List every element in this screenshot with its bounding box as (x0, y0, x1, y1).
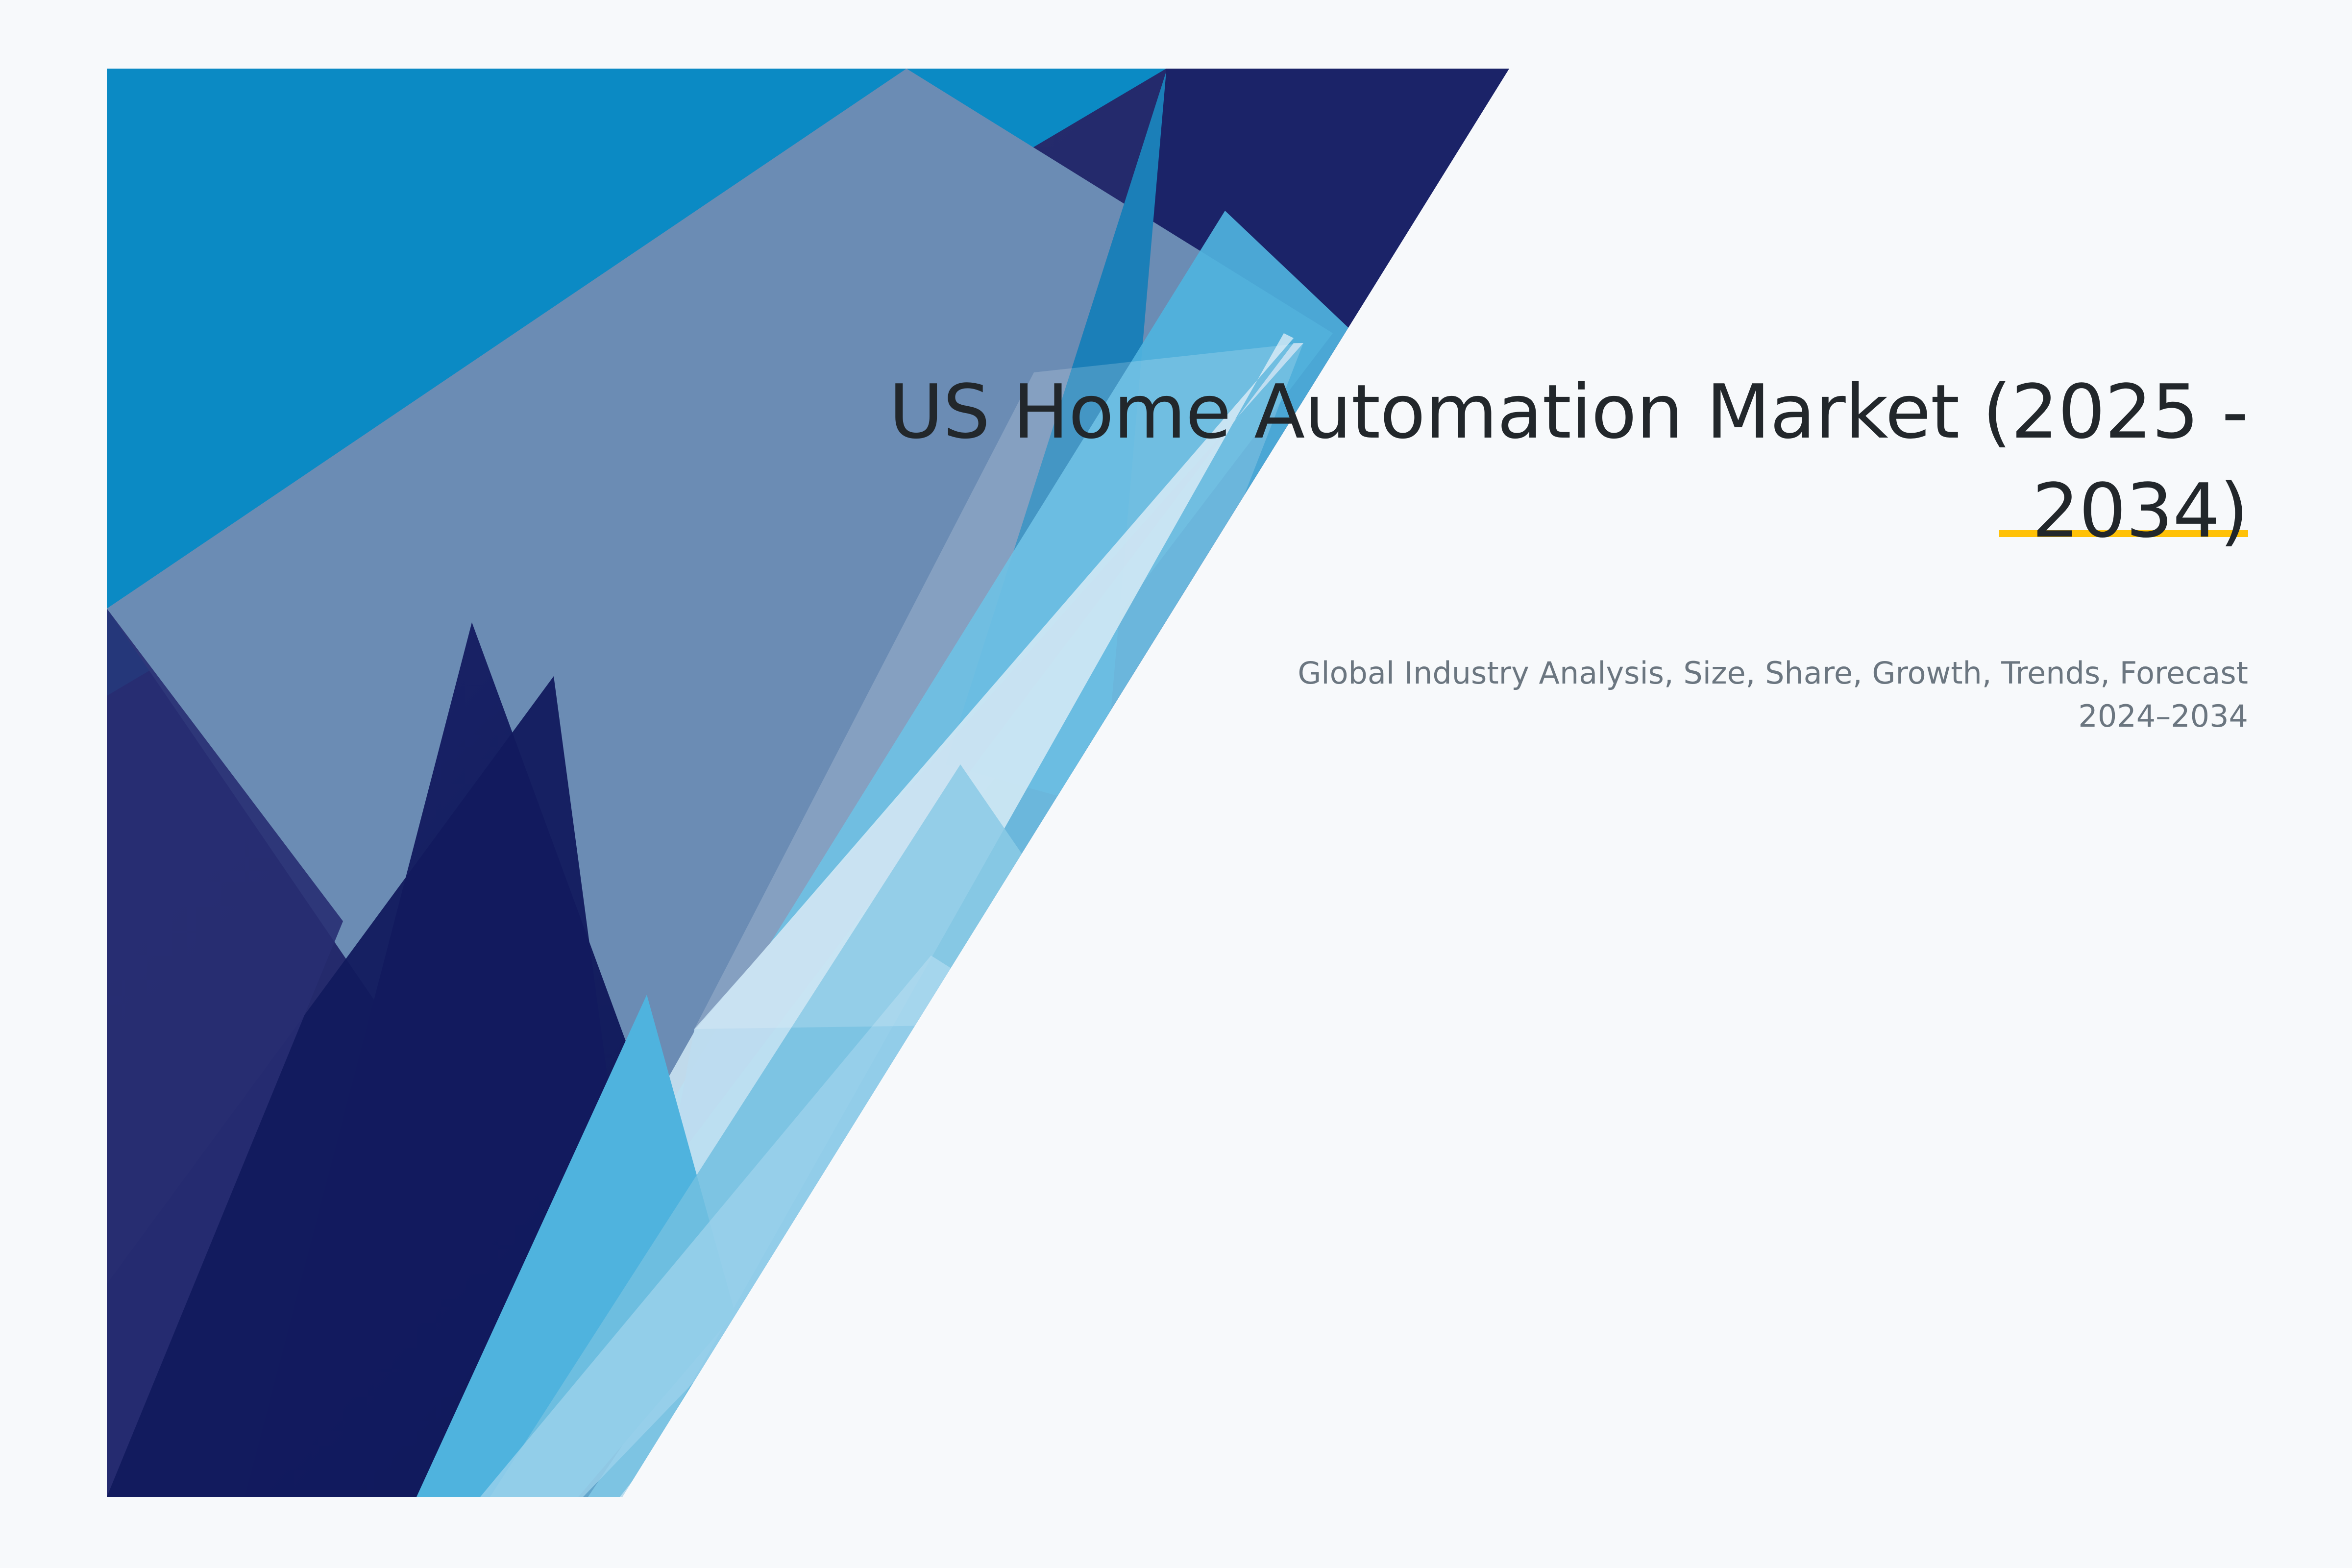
page-title: US Home Automation Market (2025 - 2034) (833, 363, 2248, 561)
shape-darkest-navy-bottom (107, 676, 647, 1497)
shape-lightsky-band-left (416, 995, 735, 1497)
shape-navy-left-column (107, 609, 343, 1497)
abstract-polygon-graphic (0, 0, 2352, 1568)
slide-canvas: US Home Automation Market (2025 - 2034) … (0, 0, 2352, 1568)
shape-navy-base (107, 69, 1509, 1497)
shape-lightsky-band-right (490, 764, 1068, 1497)
shape-deepnavy-bottom-spike (245, 622, 720, 1497)
shape-slate-blue-quad (107, 69, 1333, 1313)
page-subtitle: Global Industry Analysis, Size, Share, G… (1274, 652, 2248, 738)
title-block: US Home Automation Market (2025 - 2034) (833, 363, 2248, 561)
shape-pale-wedge-bottom (480, 955, 1039, 1497)
